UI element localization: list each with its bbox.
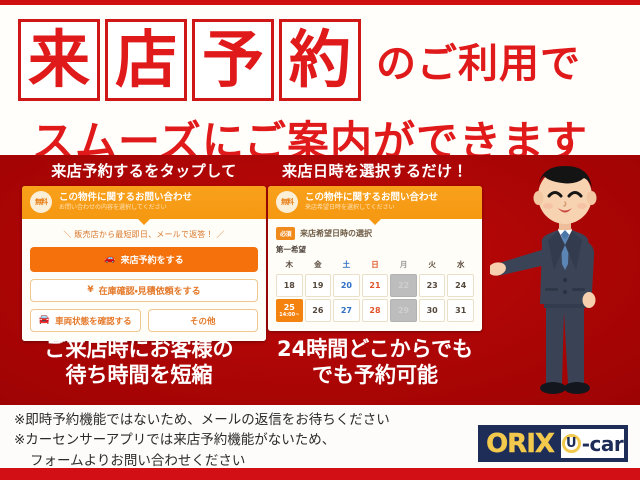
card-header-text: この物件に関するお問い合わせ お問い合わせの内容を選択してください <box>59 192 258 212</box>
phone-mockup-inquiry: 無料 この物件に関するお問い合わせ お問い合わせの内容を選択してください ＼ 販… <box>22 186 266 341</box>
headline-tail-text: のご利用で <box>376 31 581 89</box>
calendar-day-29: 29 <box>390 299 417 322</box>
businessman-illustration <box>490 152 640 410</box>
calendar-day-number: 24 <box>455 282 466 290</box>
free-badge: 無料 <box>30 191 52 213</box>
calendar-day-28[interactable]: 28 <box>362 299 389 322</box>
promise-text: ＼ 販売店から最短即日、メールで返答！ ／ <box>30 229 258 240</box>
logo-u-circle: U <box>562 434 581 453</box>
headline-boxed-char-2: 店 <box>105 19 187 101</box>
bottom-red-rule <box>0 468 640 480</box>
car-icon: 🚗 <box>104 255 115 264</box>
required-field-label: 来店希望日時の選択 <box>300 228 372 239</box>
calendar-header-notch <box>369 219 381 225</box>
headline-boxed-char-1: 来 <box>18 19 100 101</box>
button-other[interactable]: その他 <box>148 309 259 332</box>
calendar-day-number: 28 <box>369 307 380 315</box>
calendar-weekday-金: 金 <box>305 259 332 272</box>
logo-ucar-block: U -car <box>561 429 624 458</box>
headline-boxed-char-3: 予 <box>192 19 274 101</box>
calendar-weekday-土: 土 <box>333 259 360 272</box>
calendar-day-20[interactable]: 20 <box>333 274 360 297</box>
headline-band: 来 店 予 約 のご利用で スムーズにご案内ができます <box>0 5 640 155</box>
calendar-weekday-木: 木 <box>276 259 303 272</box>
calendar-day-31[interactable]: 31 <box>447 299 474 322</box>
phone-mockup-calendar: 無料 この物件に関するお問い合わせ 来店希望日時を選択してください 必須 来店希… <box>268 186 482 331</box>
logo-car-text: -car <box>582 432 624 456</box>
caption-left-line2: 待ち時間を短縮 <box>14 363 264 389</box>
calendar-day-25[interactable]: 2514:00~ <box>276 299 303 322</box>
caption-right-line1: 24時間どこからでも <box>268 337 482 363</box>
calendar-header-subtitle: 来店希望日時を選択してください <box>305 204 474 212</box>
preference-label: 第一希望 <box>276 244 474 255</box>
free-badge-calendar: 無料 <box>276 191 298 213</box>
disclaimer-notes: ※即時予約機能ではないため、メールの返信をお待ちください ※カーセンサーアプリで… <box>14 410 474 471</box>
note-line-1: ※即時予約機能ではないため、メールの返信をお待ちください <box>14 410 474 430</box>
calendar-day-grid[interactable]: 181920212223242514:00~262728293031 <box>276 274 474 322</box>
calendar-day-21[interactable]: 21 <box>362 274 389 297</box>
note-line-2: ※カーセンサーアプリでは来店予約機能がないため、 <box>14 430 474 450</box>
panel-right-heading: 来店日時を選択するだけ！ <box>268 160 482 181</box>
calendar-day-22: 22 <box>390 274 417 297</box>
card-header-notch <box>138 219 150 225</box>
button-stock-quote-label: 在庫確認・見積依頼をする <box>99 284 201 297</box>
button-vehicle-condition-label: 車両状態を確認する <box>55 315 132 327</box>
calendar-day-30[interactable]: 30 <box>419 299 446 322</box>
calendar-day-number: 21 <box>369 282 380 290</box>
calendar-day-number: 26 <box>312 307 323 315</box>
calendar-day-number: 31 <box>455 307 466 315</box>
panel-inquiry-form: 来店予約するをタップして 無料 この物件に関するお問い合わせ お問い合わせの内容… <box>22 160 266 341</box>
calendar-day-26[interactable]: 26 <box>305 299 332 322</box>
calendar-day-number: 20 <box>341 282 352 290</box>
panel-calendar: 来店日時を選択するだけ！ 無料 この物件に関するお問い合わせ 来店希望日時を選択… <box>268 160 482 331</box>
headline-boxed-char-4: 約 <box>279 19 361 101</box>
button-other-label: その他 <box>190 315 216 327</box>
calendar-day-23[interactable]: 23 <box>419 274 446 297</box>
car-status-icon: 🚘 <box>39 316 50 325</box>
button-reserve-visit-label: 来店予約をする <box>121 253 184 266</box>
calendar-day-number: 18 <box>284 282 295 290</box>
calendar-day-19[interactable]: 19 <box>305 274 332 297</box>
yen-icon: ¥ <box>87 286 93 295</box>
calendar-day-number: 27 <box>341 307 352 315</box>
calendar-weekday-水: 水 <box>447 259 474 272</box>
card-button-area: ＼ 販売店から最短即日、メールで返答！ ／ 🚗 来店予約をする ¥ 在庫確認・見… <box>22 219 266 341</box>
panel-left-heading: 来店予約するをタップして <box>22 160 266 181</box>
button-vehicle-condition[interactable]: 🚘 車両状態を確認する <box>30 309 141 332</box>
calendar-day-number: 22 <box>398 282 409 290</box>
calendar-header-title: この物件に関するお問い合わせ <box>305 192 474 203</box>
calendar-orange-header: 無料 この物件に関するお問い合わせ 来店希望日時を選択してください <box>268 186 482 219</box>
calendar-day-number: 25 <box>284 304 295 312</box>
card-header-subtitle: お問い合わせの内容を選択してください <box>59 204 258 212</box>
calendar-weekday-header: 木金土日月火水 <box>276 259 474 272</box>
calendar-weekday-月: 月 <box>390 259 417 272</box>
caption-left-line1: ご来店時にお客様の <box>14 337 264 363</box>
required-badge: 必須 <box>276 227 295 240</box>
caption-right-line2: でも予約可能 <box>268 363 482 389</box>
calendar-day-24[interactable]: 24 <box>447 274 474 297</box>
headline-kanji-row: 来 店 予 約 のご利用で <box>18 19 581 101</box>
logo-orix-text: ORIX <box>479 426 561 461</box>
calendar-weekday-火: 火 <box>419 259 446 272</box>
advertisement-banner: 来 店 予 約 のご利用で スムーズにご案内ができます 来店予約するをタップして… <box>0 0 640 480</box>
calendar-day-number: 30 <box>427 307 438 315</box>
calendar-day-time: 14:00~ <box>279 313 299 318</box>
button-row-secondary: 🚘 車両状態を確認する その他 <box>30 309 258 332</box>
caption-left: ご来店時にお客様の 待ち時間を短縮 <box>14 337 264 388</box>
card-orange-header: 無料 この物件に関するお問い合わせ お問い合わせの内容を選択してください <box>22 186 266 219</box>
calendar-day-number: 19 <box>312 282 323 290</box>
calendar-day-18[interactable]: 18 <box>276 274 303 297</box>
orix-ucar-logo: ORIX U -car <box>478 425 628 462</box>
calendar-weekday-日: 日 <box>362 259 389 272</box>
calendar-header-text: この物件に関するお問い合わせ 来店希望日時を選択してください <box>305 192 474 212</box>
calendar-day-number: 23 <box>427 282 438 290</box>
card-header-title: この物件に関するお問い合わせ <box>59 192 258 203</box>
calendar-body: 必須 来店希望日時の選択 第一希望 木金土日月火水 18192021222324… <box>268 219 482 331</box>
button-stock-quote[interactable]: ¥ 在庫確認・見積依頼をする <box>30 279 258 302</box>
calendar-day-number: 29 <box>398 307 409 315</box>
calendar-day-27[interactable]: 27 <box>333 299 360 322</box>
required-field-row: 必須 来店希望日時の選択 <box>276 227 474 240</box>
button-reserve-visit[interactable]: 🚗 来店予約をする <box>30 247 258 272</box>
caption-right: 24時間どこからでも でも予約可能 <box>268 337 482 388</box>
